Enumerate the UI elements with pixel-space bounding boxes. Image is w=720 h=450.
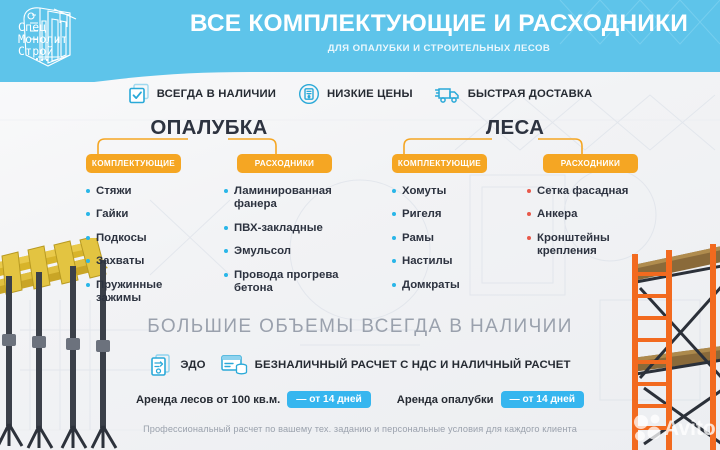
list-item: Рамы xyxy=(392,232,512,245)
bullet-dot xyxy=(86,259,90,263)
pill-consumables[interactable]: РАСХОДНИКИ xyxy=(237,154,332,173)
advertisement-banner: Спец Монолит Строй ВСЕ КОМПЛЕКТУЮЩИЕ И Р… xyxy=(0,0,720,450)
bullet-dot xyxy=(527,189,531,193)
list-item-label: Хомуты xyxy=(402,185,446,198)
list-item-label: Стяжи xyxy=(96,185,132,198)
list-item-label: Пружинные зажимы xyxy=(96,279,206,306)
bullet-dot xyxy=(527,236,531,240)
list-item-label: Ламинированная фанера xyxy=(234,185,354,212)
bullet-dot xyxy=(527,212,531,216)
feature-low-prices: НИЗКИЕ ЦЕНЫ xyxy=(298,83,413,105)
list-item: Ламинированная фанера xyxy=(224,185,354,212)
list-item: Кронштейны крепления xyxy=(527,232,647,259)
avito-wordmark: Avito xyxy=(664,417,716,440)
list-item: Сетка фасадная xyxy=(527,185,647,198)
bullet-dot xyxy=(392,189,396,193)
bullet-dot xyxy=(392,212,396,216)
group-pills: КОМПЛЕКТУЮЩИЕ РАСХОДНИКИ xyxy=(392,154,638,173)
list-item: ПВХ-закладные xyxy=(224,222,354,235)
list-item-label: Захваты xyxy=(96,255,144,268)
group-pills: КОМПЛЕКТУЮЩИЕ РАСХОДНИКИ xyxy=(86,154,332,173)
feature-label: БЫСТРАЯ ДОСТАВКА xyxy=(468,88,593,100)
price-tag-circle-icon xyxy=(298,83,320,105)
list-item-label: Подкосы xyxy=(96,232,147,245)
list-item: Анкера xyxy=(527,208,647,221)
column-scaffold-consumables: Сетка фасадная Анкера Кронштейны креплен… xyxy=(527,185,647,269)
list-item: Ригеля xyxy=(392,208,512,221)
feature-label: НИЗКИЕ ЦЕНЫ xyxy=(327,88,413,100)
payment-label: БЕЗНАЛИЧНЫЙ РАСЧЕТ С НДС И НАЛИЧНЫЙ РАСЧ… xyxy=(255,359,571,371)
bullet-dot xyxy=(86,212,90,216)
bulk-availability-headline: БОЛЬШИЕ ОБЪЕМЫ ВСЕГДА В НАЛИЧИИ xyxy=(0,316,720,338)
rental-formwork: Аренда опалубки — от 14 дней xyxy=(397,391,584,408)
group-scaffolding: ЛЕСА КОМПЛЕКТУЮЩИЕ РАСХОДНИКИ xyxy=(392,116,638,178)
building-crane-logo-icon xyxy=(18,5,80,69)
bullet-dot xyxy=(86,189,90,193)
column-scaffold-components: Хомуты Ригеля Рамы Настилы Домкраты xyxy=(392,185,512,302)
list-item-label: Эмульсол xyxy=(234,245,291,258)
payment-label: ЭДО xyxy=(180,359,205,371)
list-item: Гайки xyxy=(86,208,206,221)
banner-header: Спец Монолит Строй ВСЕ КОМПЛЕКТУЮЩИЕ И Р… xyxy=(0,0,720,78)
list-item-label: Сетка фасадная xyxy=(537,185,628,198)
list-item-label: Ригеля xyxy=(402,208,442,221)
headline-block: ВСЕ КОМПЛЕКТУЮЩИЕ И РАСХОДНИКИ ДЛЯ ОПАЛУ… xyxy=(170,12,708,54)
pill-components[interactable]: КОМПЛЕКТУЮЩИЕ xyxy=(86,154,181,173)
footnote-text: Профессиональный расчет по вашему тех. з… xyxy=(0,424,720,434)
bullet-dot xyxy=(392,259,396,263)
avito-watermark: Avito xyxy=(632,412,716,442)
feature-fast-delivery: БЫСТРАЯ ДОСТАВКА xyxy=(435,83,593,105)
bullet-dot xyxy=(224,189,228,193)
edo-document-exchange-icon xyxy=(149,353,173,377)
list-item: Захваты xyxy=(86,255,206,268)
rental-scaffolding: Аренда лесов от 100 кв.м. — от 14 дней xyxy=(136,391,371,408)
list-item: Настилы xyxy=(392,255,512,268)
feature-label: ВСЕГДА В НАЛИЧИИ xyxy=(157,88,276,100)
checkbox-stack-icon xyxy=(128,83,150,105)
list-item-label: Рамы xyxy=(402,232,434,245)
page-subtitle: ДЛЯ ОПАЛУБКИ И СТРОИТЕЛЬНЫХ ЛЕСОВ xyxy=(170,43,708,54)
invoice-cash-icon xyxy=(220,353,248,377)
list-item: Пружинные зажимы xyxy=(86,279,206,306)
page-title: ВСЕ КОМПЛЕКТУЮЩИЕ И РАСХОДНИКИ xyxy=(170,12,708,37)
delivery-truck-icon xyxy=(435,83,461,105)
payment-invoice-cash: БЕЗНАЛИЧНЫЙ РАСЧЕТ С НДС И НАЛИЧНЫЙ РАСЧ… xyxy=(220,353,571,377)
list-item-label: Домкраты xyxy=(402,279,460,292)
bullet-dot xyxy=(86,283,90,287)
list-item-label: Настилы xyxy=(402,255,452,268)
payment-edo: ЭДО xyxy=(149,353,205,377)
rental-term-chip[interactable]: — от 14 дней xyxy=(287,391,371,408)
feature-badges: ВСЕГДА В НАЛИЧИИ НИЗКИЕ ЦЕНЫ БЫСТРАЯ ДОС… xyxy=(0,79,720,109)
list-item: Эмульсол xyxy=(224,245,354,258)
payment-methods-row: ЭДО БЕЗНАЛИЧНЫЙ РАСЧЕТ С НДС И НАЛИЧНЫЙ … xyxy=(0,353,720,377)
bullet-dot xyxy=(392,236,396,240)
bullet-dot xyxy=(224,226,228,230)
bullet-dot xyxy=(392,283,396,287)
list-item: Домкраты xyxy=(392,279,512,292)
list-item-label: Провода прогрева бетона xyxy=(234,269,354,296)
bullet-dot xyxy=(86,236,90,240)
list-item: Провода прогрева бетона xyxy=(224,269,354,296)
company-logo[interactable]: Спец Монолит Строй xyxy=(18,5,158,73)
column-formwork-components: Стяжи Гайки Подкосы Захваты Пружинные за… xyxy=(86,185,206,316)
rental-terms-row: Аренда лесов от 100 кв.м. — от 14 дней А… xyxy=(0,391,720,408)
rental-label: Аренда лесов от 100 кв.м. xyxy=(136,394,280,406)
list-item: Хомуты xyxy=(392,185,512,198)
list-item-label: Кронштейны крепления xyxy=(537,232,647,259)
list-item: Подкосы xyxy=(86,232,206,245)
list-item-label: Анкера xyxy=(537,208,577,221)
list-item-label: ПВХ-закладные xyxy=(234,222,323,235)
group-formwork: ОПАЛУБКА КОМПЛЕКТУЮЩИЕ РАСХОДНИКИ xyxy=(86,116,332,178)
list-item: Стяжи xyxy=(86,185,206,198)
rental-term-chip[interactable]: — от 14 дней xyxy=(501,391,585,408)
pill-consumables[interactable]: РАСХОДНИКИ xyxy=(543,154,638,173)
rental-label: Аренда опалубки xyxy=(397,394,494,406)
column-formwork-consumables: Ламинированная фанера ПВХ-закладные Эмул… xyxy=(224,185,354,306)
feature-in-stock: ВСЕГДА В НАЛИЧИИ xyxy=(128,83,276,105)
bullet-dot xyxy=(224,249,228,253)
list-item-label: Гайки xyxy=(96,208,128,221)
bullet-dot xyxy=(224,273,228,277)
pill-components[interactable]: КОМПЛЕКТУЮЩИЕ xyxy=(392,154,487,173)
